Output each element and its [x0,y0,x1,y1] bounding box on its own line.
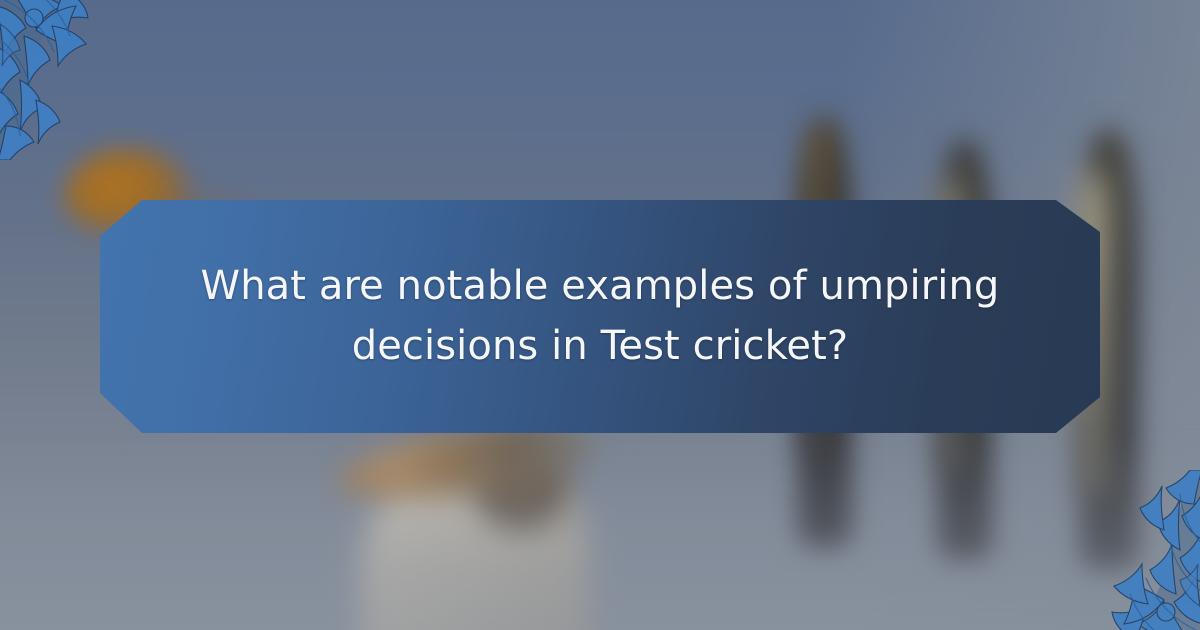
ground-haze [0,430,1200,630]
headline-banner: What are notable examples of umpiring de… [100,200,1100,433]
headline-text: What are notable examples of umpiring de… [100,257,1100,375]
social-card: What are notable examples of umpiring de… [0,0,1200,630]
